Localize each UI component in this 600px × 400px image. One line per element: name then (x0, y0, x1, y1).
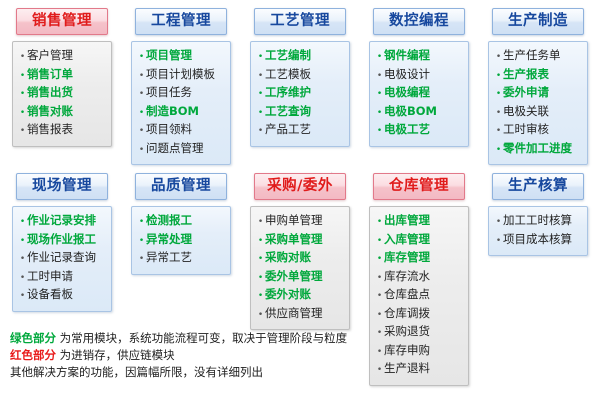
module-list-item-label: 制造BOM (146, 103, 199, 120)
module-list-item-label: 工艺模板 (265, 66, 311, 83)
module-list-item-label: 销售出货 (27, 84, 73, 101)
module-list-item[interactable]: •问题点管理 (137, 140, 226, 159)
module-list-item[interactable]: •电极设计 (375, 66, 464, 85)
module-list-item-label: 作业记录查询 (27, 249, 96, 266)
module-list-item[interactable]: •工时申请 (18, 268, 107, 287)
bullet-icon: • (137, 49, 146, 66)
module-list-item[interactable]: •销售订单 (18, 66, 107, 85)
module-card-header[interactable]: 仓库管理 (373, 173, 465, 200)
module-card-header[interactable]: 生产核算 (492, 173, 584, 200)
bullet-icon: • (18, 68, 27, 85)
module-card: 工艺管理•工艺编制•工艺模板•工序维护•工艺查询•产品工艺 (244, 8, 356, 147)
bullet-icon: • (375, 344, 384, 361)
bullet-icon: • (137, 86, 146, 103)
module-list-item-label: 申购单管理 (265, 212, 323, 229)
module-list-item[interactable]: •入库管理 (375, 231, 464, 250)
module-list-item[interactable]: •设备看板 (18, 286, 107, 305)
bullet-icon: • (494, 142, 503, 159)
legend-line-note: 其他解决方案的功能，因篇幅所限，没有详细列出 (10, 364, 347, 381)
module-list-item[interactable]: •作业记录安排 (18, 212, 107, 231)
module-map-board: 销售管理•客户管理•销售订单•销售出货•销售对账•销售报表工程管理•项目管理•项… (0, 0, 600, 400)
module-list-item[interactable]: •生产退料 (375, 360, 464, 379)
module-card-header[interactable]: 数控编程 (373, 8, 465, 35)
module-list-item[interactable]: •工序维护 (256, 84, 345, 103)
bullet-icon: • (375, 362, 384, 379)
module-list-item[interactable]: •库存流水 (375, 268, 464, 287)
module-list-item-label: 工艺编制 (265, 47, 311, 64)
module-list-item-label: 电极设计 (384, 66, 430, 83)
module-card-list: •加工工时核算•项目成本核算 (488, 206, 588, 256)
module-card: 数控编程•钢件编程•电极设计•电极编程•电极BOM•电极工艺 (363, 8, 475, 147)
module-card-list: •作业记录安排•现场作业报工•作业记录查询•工时申请•设备看板 (12, 206, 112, 312)
module-list-item-label: 钢件编程 (384, 47, 430, 64)
bullet-icon: • (375, 105, 384, 122)
module-list-item[interactable]: •客户管理 (18, 47, 107, 66)
module-list-item-label: 项目管理 (146, 47, 192, 64)
bullet-icon: • (137, 214, 146, 231)
module-card-header[interactable]: 销售管理 (16, 8, 108, 35)
module-list-item-label: 采购退货 (384, 323, 430, 340)
module-list-item[interactable]: •项目管理 (137, 47, 226, 66)
module-list-item[interactable]: •零件加工进度 (494, 140, 583, 159)
module-list-item[interactable]: •仓库调拨 (375, 305, 464, 324)
module-list-item[interactable]: •采购对账 (256, 249, 345, 268)
module-card-list: •生产任务单•生产报表•委外申请•电极关联•工时审核•零件加工进度 (488, 41, 588, 165)
module-list-item-label: 生产退料 (384, 360, 430, 377)
module-card-list: •出库管理•入库管理•库存管理•库存流水•仓库盘点•仓库调拨•采购退货•库存申购… (369, 206, 469, 386)
module-list-item[interactable]: •项目成本核算 (494, 231, 583, 250)
module-list-item[interactable]: •电极工艺 (375, 121, 464, 140)
module-card-list: •检测报工•异常处理•异常工艺 (131, 206, 231, 275)
bullet-icon: • (137, 123, 146, 140)
bullet-icon: • (18, 49, 27, 66)
bullet-icon: • (18, 86, 27, 103)
module-list-item[interactable]: •销售出货 (18, 84, 107, 103)
module-list-item-label: 销售报表 (27, 121, 73, 138)
module-list-item-label: 项目领料 (146, 121, 192, 138)
module-card: 生产核算•加工工时核算•项目成本核算 (482, 173, 594, 256)
module-list-item-label: 生产报表 (503, 66, 549, 83)
module-list-item[interactable]: •销售对账 (18, 103, 107, 122)
bullet-icon: • (256, 307, 265, 324)
module-list-item[interactable]: •出库管理 (375, 212, 464, 231)
module-list-item-label: 加工工时核算 (503, 212, 572, 229)
module-list-item[interactable]: •加工工时核算 (494, 212, 583, 231)
module-list-item-label: 产品工艺 (265, 121, 311, 138)
bullet-icon: • (256, 49, 265, 66)
module-list-item[interactable]: •工艺模板 (256, 66, 345, 85)
module-list-item[interactable]: •电极编程 (375, 84, 464, 103)
legend-green-description: 为常用模块，系统功能流程可变，取决于管理阶段与粒度 (56, 331, 347, 345)
bullet-icon: • (18, 233, 27, 250)
module-list-item[interactable]: •采购单管理 (256, 231, 345, 250)
module-list-item[interactable]: •库存申购 (375, 342, 464, 361)
bullet-icon: • (494, 105, 503, 122)
module-list-item-label: 销售订单 (27, 66, 73, 83)
bullet-icon: • (494, 86, 503, 103)
module-list-item-label: 工艺查询 (265, 103, 311, 120)
bullet-icon: • (375, 49, 384, 66)
module-card: 销售管理•客户管理•销售订单•销售出货•销售对账•销售报表 (6, 8, 118, 147)
module-row-top: 销售管理•客户管理•销售订单•销售出货•销售对账•销售报表工程管理•项目管理•项… (6, 8, 594, 173)
module-card: 采购/委外•申购单管理•采购单管理•采购对账•委外单管理•委外对账•供应商管理 (244, 173, 356, 330)
module-list-item[interactable]: •工时审核 (494, 121, 583, 140)
module-list-item-label: 电极关联 (503, 103, 549, 120)
bullet-icon: • (256, 288, 265, 305)
bullet-icon: • (375, 86, 384, 103)
module-list-item-label: 入库管理 (384, 231, 430, 248)
module-card-list: •项目管理•项目计划模板•项目任务•制造BOM•项目领料•问题点管理 (131, 41, 231, 165)
bullet-icon: • (375, 307, 384, 324)
bullet-icon: • (256, 123, 265, 140)
module-list-item-label: 现场作业报工 (27, 231, 96, 248)
module-list-item[interactable]: •工艺查询 (256, 103, 345, 122)
bullet-icon: • (256, 105, 265, 122)
module-list-item-label: 采购单管理 (265, 231, 323, 248)
module-list-item-label: 销售对账 (27, 103, 73, 120)
module-list-item[interactable]: •项目任务 (137, 84, 226, 103)
module-list-item-label: 工时申请 (27, 268, 73, 285)
bullet-icon: • (375, 270, 384, 287)
legend-line-red: 红色部分 为进销存，供应链模块 (10, 347, 347, 364)
module-list-item-label: 项目成本核算 (503, 231, 572, 248)
module-list-item-label: 客户管理 (27, 47, 73, 64)
bullet-icon: • (494, 214, 503, 231)
module-list-item[interactable]: •申购单管理 (256, 212, 345, 231)
module-card-header[interactable]: 品质管理 (135, 173, 227, 200)
module-card-header[interactable]: 现场管理 (16, 173, 108, 200)
bullet-icon: • (18, 251, 27, 268)
module-list-item-label: 项目任务 (146, 84, 192, 101)
module-list-item-label: 出库管理 (384, 212, 430, 229)
bullet-icon: • (137, 68, 146, 85)
legend-line-green: 绿色部分 为常用模块，系统功能流程可变，取决于管理阶段与粒度 (10, 330, 347, 347)
module-list-item[interactable]: •供应商管理 (256, 305, 345, 324)
module-list-item-label: 电极编程 (384, 84, 430, 101)
module-list-item[interactable]: •钢件编程 (375, 47, 464, 66)
module-list-item-label: 设备看板 (27, 286, 73, 303)
module-list-item-label: 工序维护 (265, 84, 311, 101)
bullet-icon: • (18, 270, 27, 287)
module-list-item-label: 库存管理 (384, 249, 430, 266)
legend-red-keyword: 红色部分 (10, 348, 56, 362)
module-card-list: •申购单管理•采购单管理•采购对账•委外单管理•委外对账•供应商管理 (250, 206, 350, 330)
bullet-icon: • (375, 288, 384, 305)
bullet-icon: • (375, 68, 384, 85)
module-card-list: •客户管理•销售订单•销售出货•销售对账•销售报表 (12, 41, 112, 147)
module-list-item-label: 异常处理 (146, 231, 192, 248)
bullet-icon: • (375, 233, 384, 250)
module-list-item[interactable]: •现场作业报工 (18, 231, 107, 250)
module-card: 品质管理•检测报工•异常处理•异常工艺 (125, 173, 237, 275)
module-card: 仓库管理•出库管理•入库管理•库存管理•库存流水•仓库盘点•仓库调拨•采购退货•… (363, 173, 475, 386)
module-list-item-label: 仓库盘点 (384, 286, 430, 303)
module-card-list: •钢件编程•电极设计•电极编程•电极BOM•电极工艺 (369, 41, 469, 147)
module-list-item-label: 委外申请 (503, 84, 549, 101)
bullet-icon: • (375, 123, 384, 140)
module-list-item[interactable]: •库存管理 (375, 249, 464, 268)
module-card-list: •工艺编制•工艺模板•工序维护•工艺查询•产品工艺 (250, 41, 350, 147)
bullet-icon: • (256, 270, 265, 287)
module-list-item[interactable]: •委外申请 (494, 84, 583, 103)
module-list-item-label: 电极BOM (384, 103, 437, 120)
bullet-icon: • (494, 123, 503, 140)
module-list-item-label: 作业记录安排 (27, 212, 96, 229)
module-list-item-label: 异常工艺 (146, 249, 192, 266)
module-list-item-label: 供应商管理 (265, 305, 323, 322)
module-list-item-label: 问题点管理 (146, 140, 204, 157)
module-list-item-label: 库存申购 (384, 342, 430, 359)
module-list-item-label: 采购对账 (265, 249, 311, 266)
bullet-icon: • (137, 233, 146, 250)
bullet-icon: • (256, 68, 265, 85)
module-list-item-label: 电极工艺 (384, 121, 430, 138)
module-list-item[interactable]: •异常处理 (137, 231, 226, 250)
module-card-header[interactable]: 工艺管理 (254, 8, 346, 35)
module-list-item[interactable]: •检测报工 (137, 212, 226, 231)
bullet-icon: • (375, 251, 384, 268)
module-card-header[interactable]: 采购/委外 (254, 173, 346, 200)
legend: 绿色部分 为常用模块，系统功能流程可变，取决于管理阶段与粒度 红色部分 为进销存… (10, 330, 347, 381)
module-list-item-label: 工时审核 (503, 121, 549, 138)
module-card: 生产制造•生产任务单•生产报表•委外申请•电极关联•工时审核•零件加工进度 (482, 8, 594, 165)
module-card-header[interactable]: 生产制造 (492, 8, 584, 35)
module-list-item-label: 生产任务单 (503, 47, 561, 64)
module-list-item-label: 零件加工进度 (503, 140, 572, 157)
module-list-item-label: 委外对账 (265, 286, 311, 303)
bullet-icon: • (256, 86, 265, 103)
module-list-item[interactable]: •电极BOM (375, 103, 464, 122)
bullet-icon: • (375, 325, 384, 342)
bullet-icon: • (375, 214, 384, 231)
module-list-item[interactable]: •作业记录查询 (18, 249, 107, 268)
bullet-icon: • (256, 233, 265, 250)
bullet-icon: • (137, 142, 146, 159)
bullet-icon: • (494, 68, 503, 85)
bullet-icon: • (256, 214, 265, 231)
legend-green-keyword: 绿色部分 (10, 331, 56, 345)
module-list-item[interactable]: •仓库盘点 (375, 286, 464, 305)
bullet-icon: • (18, 123, 27, 140)
module-list-item-label: 委外单管理 (265, 268, 323, 285)
bullet-icon: • (18, 288, 27, 305)
module-card: 工程管理•项目管理•项目计划模板•项目任务•制造BOM•项目领料•问题点管理 (125, 8, 237, 165)
module-list-item[interactable]: •工艺编制 (256, 47, 345, 66)
module-list-item[interactable]: •采购退货 (375, 323, 464, 342)
module-list-item-label: 检测报工 (146, 212, 192, 229)
module-list-item[interactable]: •异常工艺 (137, 249, 226, 268)
module-list-item[interactable]: •销售报表 (18, 121, 107, 140)
bullet-icon: • (137, 105, 146, 122)
module-list-item-label: 库存流水 (384, 268, 430, 285)
bullet-icon: • (494, 49, 503, 66)
bullet-icon: • (137, 251, 146, 268)
bullet-icon: • (494, 233, 503, 250)
legend-red-description: 为进销存，供应链模块 (56, 348, 175, 362)
module-list-item[interactable]: •项目领料 (137, 121, 226, 140)
module-row-bottom: 现场管理•作业记录安排•现场作业报工•作业记录查询•工时申请•设备看板品质管理•… (6, 173, 594, 333)
module-list-item-label: 仓库调拨 (384, 305, 430, 322)
module-list-item[interactable]: •制造BOM (137, 103, 226, 122)
bullet-icon: • (18, 105, 27, 122)
module-card-header[interactable]: 工程管理 (135, 8, 227, 35)
module-card: 现场管理•作业记录安排•现场作业报工•作业记录查询•工时申请•设备看板 (6, 173, 118, 312)
module-list-item[interactable]: •电极关联 (494, 103, 583, 122)
module-list-item[interactable]: •产品工艺 (256, 121, 345, 140)
bullet-icon: • (256, 251, 265, 268)
bullet-icon: • (18, 214, 27, 231)
module-list-item[interactable]: •项目计划模板 (137, 66, 226, 85)
module-list-item-label: 项目计划模板 (146, 66, 215, 83)
module-list-item[interactable]: •生产报表 (494, 66, 583, 85)
module-list-item[interactable]: •委外对账 (256, 286, 345, 305)
module-list-item[interactable]: •生产任务单 (494, 47, 583, 66)
module-list-item[interactable]: •委外单管理 (256, 268, 345, 287)
